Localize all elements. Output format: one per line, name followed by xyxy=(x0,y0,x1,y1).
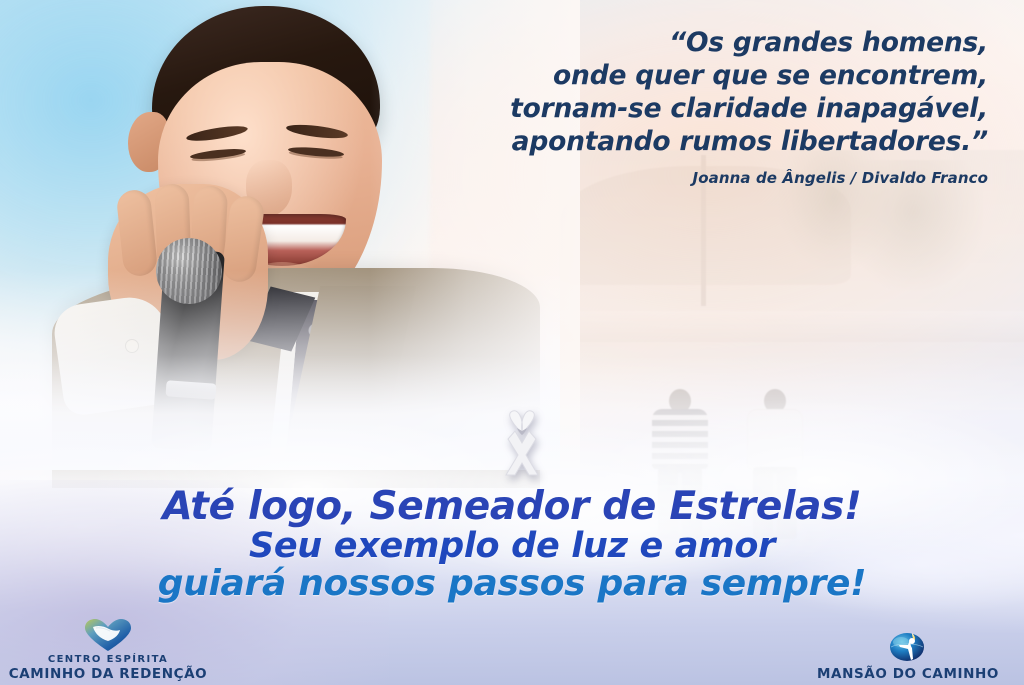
quote-block: “Os grandes homens, onde quer que se enc… xyxy=(368,26,988,187)
quote-line-1: “Os grandes homens, xyxy=(368,26,988,59)
logo-left-line-1: CENTRO ESPÍRITA xyxy=(8,653,208,666)
memorial-poster: “Os grandes homens, onde quer que se enc… xyxy=(0,0,1024,685)
tribute-line-1: Até logo, Semeador de Estrelas! xyxy=(0,486,1024,528)
logo-left-line-2: CAMINHO DA REDENÇÃO xyxy=(8,666,208,682)
quote-author: Joanna de Ângelis / Divaldo Franco xyxy=(368,169,988,187)
globe-flame-icon xyxy=(798,627,1018,663)
tribute-line-2: Seu exemplo de luz e amor xyxy=(0,528,1024,565)
tribute-line-3: guiará nossos passos para sempre! xyxy=(0,565,1024,604)
quote-line-4: apontando rumos libertadores.” xyxy=(368,125,988,158)
ghost-photo-wall xyxy=(560,311,1024,342)
heart-hand-icon xyxy=(8,617,208,653)
logo-right-line-1: MANSÃO DO CAMINHO xyxy=(798,666,1018,682)
logo-mansao-do-caminho: MANSÃO DO CAMINHO xyxy=(798,627,1018,682)
logo-centro-espirita-caminho-da-redencao: CENTRO ESPÍRITA CAMINHO DA REDENÇÃO xyxy=(8,617,208,682)
tribute-block: Até logo, Semeador de Estrelas! Seu exem… xyxy=(0,486,1024,604)
quote-line-3: tornam-se claridade inapagável, xyxy=(368,92,988,125)
quote-line-2: onde quer que se encontrem, xyxy=(368,59,988,92)
white-mourning-ribbon-icon xyxy=(489,409,555,487)
